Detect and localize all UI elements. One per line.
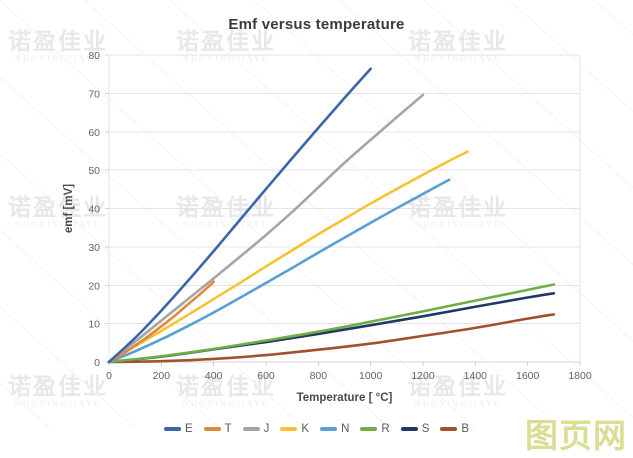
legend-item-T[interactable]: T: [204, 423, 232, 435]
series-line-E: [109, 69, 371, 362]
legend-swatch-icon: [280, 427, 297, 431]
legend-label: S: [422, 423, 430, 435]
y-tick-label: 0: [94, 357, 100, 369]
legend-item-R[interactable]: R: [360, 423, 389, 435]
y-tick-label: 50: [88, 165, 100, 177]
legend-item-B[interactable]: B: [440, 423, 469, 435]
legend-swatch-icon: [401, 427, 418, 431]
x-tick-label: 400: [205, 370, 223, 382]
x-tick-label: 1600: [516, 370, 540, 382]
x-tick-label: 1200: [411, 370, 435, 382]
series-line-N: [109, 180, 449, 362]
legend-label: E: [185, 423, 193, 435]
series-line-S: [109, 293, 554, 362]
x-tick-label: 1000: [359, 370, 383, 382]
x-axis-ticks: 020040060080010001200140016001800: [106, 362, 592, 382]
legend-swatch-icon: [204, 427, 221, 431]
y-tick-label: 70: [88, 88, 100, 100]
legend-item-J[interactable]: J: [243, 423, 270, 435]
series-line-K: [109, 152, 467, 362]
x-tick-label: 0: [106, 370, 112, 382]
legend-swatch-icon: [440, 427, 457, 431]
y-tick-label: 40: [88, 204, 100, 216]
legend-label: T: [225, 423, 232, 435]
y-tick-label: 30: [88, 242, 100, 254]
x-axis-title: Temperature [ °C]: [297, 392, 393, 404]
x-tick-label: 600: [257, 370, 275, 382]
x-tick-label: 1800: [568, 370, 592, 382]
legend-swatch-icon: [320, 427, 337, 431]
legend-label: B: [461, 423, 469, 435]
gridlines: [109, 55, 580, 362]
legend-swatch-icon: [360, 427, 377, 431]
x-tick-label: 200: [153, 370, 171, 382]
legend-item-S[interactable]: S: [401, 423, 430, 435]
data-series: [109, 69, 554, 362]
chart-page: 诺盈佳业NUOYINGJIAYE诺盈佳业NUOYINGJIAYE诺盈佳业NUOY…: [0, 0, 633, 458]
site-logo: 图页网: [525, 419, 627, 452]
legend-label: J: [264, 423, 270, 435]
y-tick-label: 10: [88, 319, 100, 331]
y-tick-label: 80: [88, 50, 100, 62]
x-tick-label: 800: [310, 370, 328, 382]
legend-label: N: [341, 423, 349, 435]
y-tick-label: 60: [88, 127, 100, 139]
x-tick-label: 1400: [464, 370, 488, 382]
plot-area: 01020304050607080 0200400600800100012001…: [0, 0, 633, 458]
y-axis-title: emf [mV]: [63, 184, 75, 233]
y-tick-label: 20: [88, 280, 100, 292]
legend-swatch-icon: [243, 427, 260, 431]
y-axis-ticks: 01020304050607080: [88, 50, 109, 369]
legend-swatch-icon: [164, 427, 181, 431]
chart-svg: 01020304050607080 0200400600800100012001…: [0, 0, 633, 458]
legend-item-K[interactable]: K: [280, 423, 309, 435]
legend-item-N[interactable]: N: [320, 423, 349, 435]
legend-label: R: [381, 423, 389, 435]
legend-item-E[interactable]: E: [164, 423, 193, 435]
legend-label: K: [301, 423, 309, 435]
